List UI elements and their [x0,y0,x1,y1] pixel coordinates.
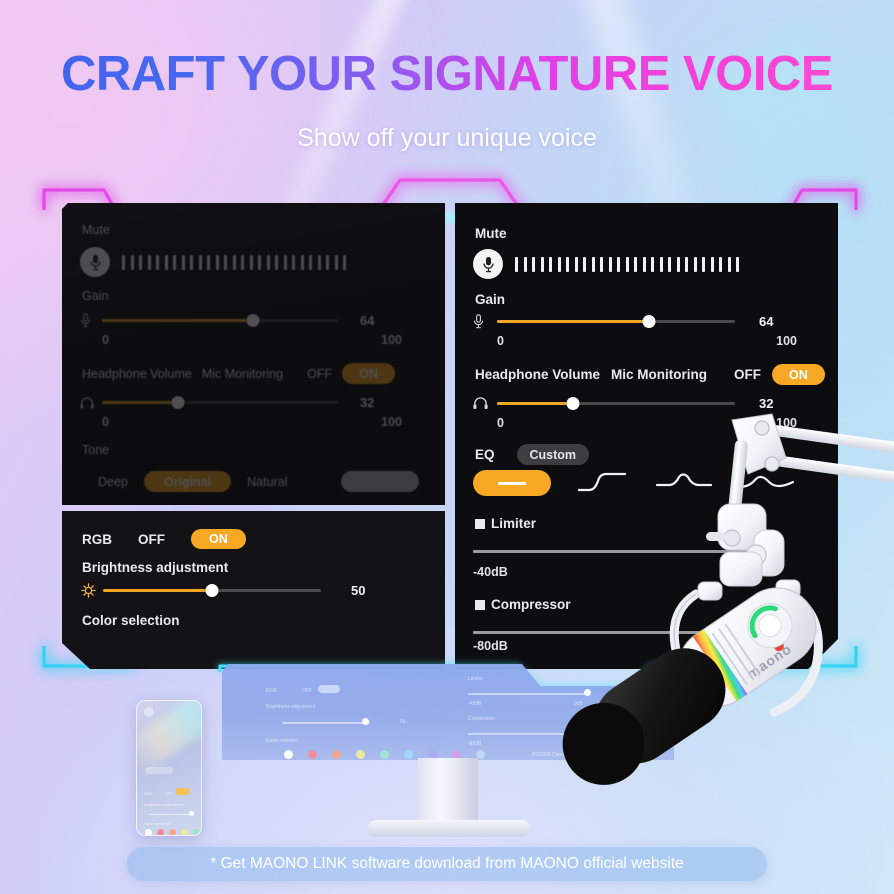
microphone-icon [473,314,493,329]
limiter-min: -40dB [473,565,508,579]
phone-brightness-slider [149,814,193,815]
phone-color-label: Color selection [144,821,170,826]
left-level-meter [122,255,346,270]
reflection-limiter-label: Limiter [468,676,483,682]
eq-preset-flat[interactable] [473,470,551,496]
microphone-illustration: maono [636,412,894,812]
monitor-base [368,820,530,837]
eq-preset-low-cut[interactable] [573,470,633,496]
gain-label: Gain [475,292,505,307]
reflection-brightness-slider [282,722,370,724]
tone-option-deep[interactable]: Deep [98,475,128,489]
compressor-label: Compressor [491,597,571,612]
gain-value: 64 [759,314,773,329]
tone-extra-button[interactable] [341,471,419,492]
rgb-label: RGB [82,532,112,547]
phone-mic-icon [144,707,154,717]
brightness-slider[interactable] [103,584,321,598]
mic-monitoring-label: Mic Monitoring [611,367,707,382]
compressor-row[interactable]: Compressor [475,597,571,612]
phone-rgb-label: RGB [144,791,153,796]
reflection-limiter-knob [584,689,591,696]
left-mute-label: Mute [82,223,110,237]
gain-max: 100 [776,334,797,348]
reflection-brightness-value: 50 [400,719,406,725]
brightness-value: 50 [351,583,365,598]
gain-min: 0 [497,334,504,348]
mute-label: Mute [475,226,507,241]
brightness-label: Brightness adjustment [82,560,228,575]
reflection-limiter-max: 0dB [574,701,583,707]
headphone-icon [473,397,493,410]
reflection-swatch [404,750,413,759]
reflection-brightness-label: Brightness adjustment [266,704,315,710]
mute-button[interactable] [473,249,503,279]
left-tone-label: Tone [82,443,109,457]
monitor-stand [418,758,478,824]
rgb-on-button[interactable]: ON [191,529,246,549]
left-gain-max: 100 [381,333,402,347]
reflection-brightness-knob [362,718,369,725]
microphone-icon [80,313,98,328]
left-mic-monitoring-on[interactable]: ON [342,363,395,384]
left-gain-min: 0 [102,333,109,347]
left-headphone-label: Headphone Volume [82,367,192,381]
phone-swatch [145,829,152,836]
phone-brightness-label: Brightness adjustment [144,802,184,807]
reflection-rgb-label: RGB [266,688,277,694]
level-meter [515,257,739,272]
headphone-volume-label: Headphone Volume [475,367,600,382]
left-mic-monitoring-label: Mic Monitoring [202,367,283,381]
footer-note: * Get MAONO LINK software download from … [127,847,767,881]
phone-swatch [181,829,188,836]
phone-pill [145,767,173,774]
reflection-swatch [284,750,293,759]
phone-rgb-on-toggle [175,788,190,795]
headphone-icon [80,397,98,409]
rgb-off-button[interactable]: OFF [138,532,165,547]
left-headphone-value: 32 [360,395,374,410]
tone-option-natural[interactable]: Natural [247,475,287,489]
phone-brightness-knob [189,811,194,816]
gain-slider[interactable] [497,315,735,329]
limiter-label: Limiter [491,516,536,531]
page-subtitle: Show off your unique voice [0,124,894,153]
reflection-limiter-min: -40dB [468,701,481,707]
phone-swatch [193,829,200,836]
left-headphone-slider[interactable] [102,396,338,410]
reflection-swatch [308,750,317,759]
microphone-icon [89,254,102,271]
left-gain-label: Gain [82,289,108,303]
limiter-row[interactable]: Limiter [475,516,536,531]
phone-swatch [169,829,176,836]
headphone-min: 0 [497,416,504,430]
phone-swatch [157,829,164,836]
page-title: CRAFT YOUR SIGNATURE VOICE [0,46,894,102]
reflection-rgb-off: OFF [302,688,312,694]
color-selection-label: Color selection [82,613,180,628]
left-gain-slider[interactable] [102,314,338,328]
left-mute-button[interactable] [80,247,110,277]
mic-monitoring-on-button[interactable]: ON [772,364,825,385]
compressor-min: -80dB [473,639,508,653]
headphone-volume-slider[interactable] [497,397,735,411]
reflection-swatch [356,750,365,759]
left-panel-bottom: RGB OFF ON Brightness adjustment [62,511,445,669]
left-gain-value: 64 [360,313,374,328]
eq-label: EQ [475,447,495,462]
reflection-swatch [332,750,341,759]
reflection-compressor-label: Compressor [468,716,495,722]
reflection-compressor-min: -80dB [468,741,481,747]
phone-rgb-off: OFF [165,791,173,796]
left-mic-monitoring-off[interactable]: OFF [307,367,332,381]
microphone-icon [482,256,495,273]
tone-option-original[interactable]: Original [144,471,231,492]
reflection-swatch [380,750,389,759]
reflection-rgb-toggle [318,685,340,693]
left-headphone-max: 100 [381,415,402,429]
phone-mockup: RGB OFF Brightness adjustment Color sele… [136,700,202,836]
eq-preset-custom[interactable]: Custom [517,444,590,465]
limiter-checkbox[interactable] [475,519,485,529]
headphone-volume-value: 32 [759,396,773,411]
left-panel-top: Mute [62,203,445,505]
brightness-icon [81,583,103,598]
reflection-color-label: Color selection [266,738,299,744]
left-headphone-min: 0 [102,415,109,429]
reflection-limiter-slider [468,693,588,695]
mic-monitoring-off-button[interactable]: OFF [734,367,761,382]
compressor-checkbox[interactable] [475,600,485,610]
